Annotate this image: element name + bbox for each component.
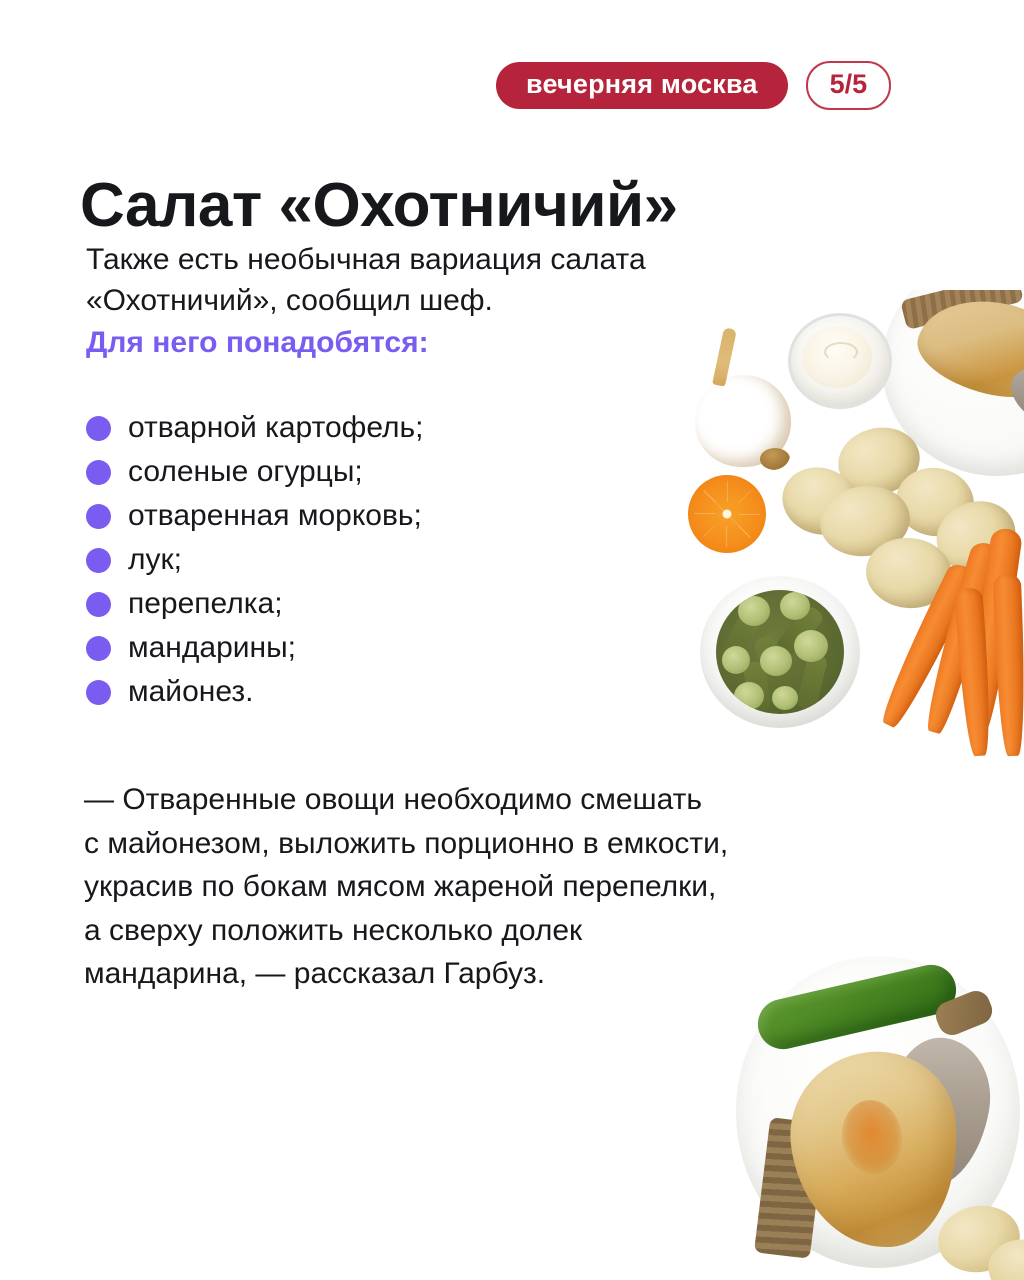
bullet-dot-icon <box>86 680 111 705</box>
orange-slice-shape <box>688 475 766 553</box>
bullet-dot-icon <box>86 548 111 573</box>
carrot-shape <box>993 574 1024 757</box>
quote-line-2: с майонезом, выложить порционно в емкост… <box>84 822 944 866</box>
ingredients-heading: Для него понадобятся: <box>86 323 686 364</box>
mayonnaise-swirl-shape <box>824 342 858 362</box>
list-item: лук; <box>86 538 626 582</box>
list-item: перепелка; <box>86 582 626 626</box>
list-item: майонез. <box>86 670 626 714</box>
list-item: отварной картофель; <box>86 406 626 450</box>
bullet-dot-icon <box>86 416 111 441</box>
pickle-bowl-contents <box>716 590 844 714</box>
ingredient-label: мандарины; <box>128 633 296 663</box>
ingredient-label: отваренная морковь; <box>128 501 422 531</box>
bullet-dot-icon <box>86 504 111 529</box>
header-badges: вечерняя москва 5/5 <box>496 61 891 110</box>
slide-counter-badge: 5/5 <box>806 61 892 110</box>
ingredient-label: соленые огурцы; <box>128 457 363 487</box>
ingredients-photo <box>660 290 1024 760</box>
ingredient-label: майонез. <box>128 677 253 707</box>
intro-paragraph: Также есть необычная вариация салата «Ох… <box>86 240 686 364</box>
ingredient-label: лук; <box>128 545 182 575</box>
ingredient-label: перепелка; <box>128 589 283 619</box>
intro-line-2: «Охотничий», сообщил шеф. <box>86 281 686 322</box>
quote-line-5: мандарина, — рассказал Гарбуз. <box>84 952 944 996</box>
ingredient-label: отварной картофель; <box>128 413 424 443</box>
quote-line-4: а сверху положить несколько долек <box>84 909 944 953</box>
quote-paragraph: — Отваренные овощи необходимо смешать с … <box>84 778 944 996</box>
brand-badge: вечерняя москва <box>496 62 788 109</box>
quote-line-3: украсив по бокам мясом жареной перепелки… <box>84 865 944 909</box>
bullet-dot-icon <box>86 460 111 485</box>
list-item: отваренная морковь; <box>86 494 626 538</box>
ingredients-list: отварной картофель; соленые огурцы; отва… <box>86 406 626 714</box>
bullet-dot-icon <box>86 636 111 661</box>
bullet-dot-icon <box>86 592 111 617</box>
quote-line-1: — Отваренные овощи необходимо смешать <box>84 778 944 822</box>
list-item: мандарины; <box>86 626 626 670</box>
onion-root-shape <box>760 448 790 470</box>
page-title: Салат «Охотничий» <box>80 173 678 238</box>
intro-line-1: Также есть необычная вариация салата <box>86 240 686 281</box>
list-item: соленые огурцы; <box>86 450 626 494</box>
poster-card: вечерняя москва 5/5 Салат «Охотничий» Та… <box>0 0 1024 1280</box>
